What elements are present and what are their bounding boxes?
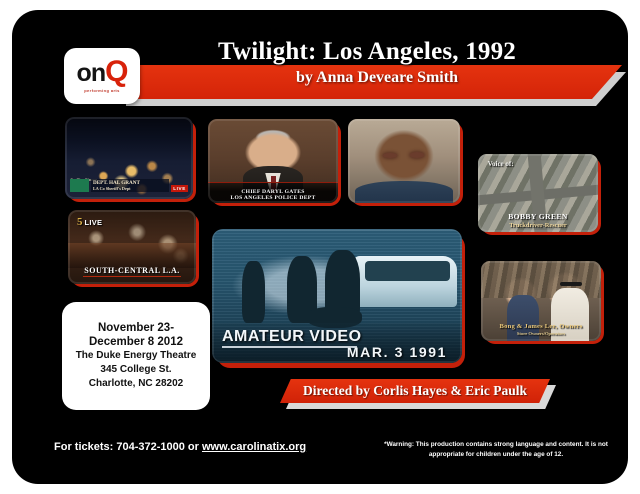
bobby-green-caption-2: Truckdriver-Rescuer <box>478 222 598 229</box>
logo-wordmark: onQ <box>77 59 128 86</box>
director-banner: Directed by Corlis Hayes & Eric Paulk <box>280 379 550 403</box>
venue-city: Charlotte, NC 28202 <box>89 377 183 391</box>
photo-night-aerial: On The Phone DEPT. HAL GRANT LA Co Sheri… <box>65 117 193 199</box>
bobby-green-caption-1: BOBBY GREEN <box>478 212 598 221</box>
south-central-rule <box>83 276 180 278</box>
amateur-video-figure-1 <box>242 261 265 323</box>
tickets-info: For tickets: 704-372-1000 or www.carolin… <box>54 441 306 453</box>
amateur-video-car-window <box>365 261 450 281</box>
tickets-phone-text: For tickets: 704-372-1000 or <box>54 441 199 453</box>
page-title: Twilight: Los Angeles, 1992 <box>152 38 582 66</box>
channel-5-live-badge: 5 LIVE <box>77 217 102 228</box>
live-badge: LIVE <box>171 185 188 192</box>
photo-chief-gates: CHIEF DARYL GATES LOS ANGELES POLICE DEP… <box>208 119 338 203</box>
live-label: LIVE <box>84 218 102 227</box>
store-owners-caption-2: Store Owners/Operators <box>481 331 601 336</box>
venue-street: 345 College St. <box>100 363 171 377</box>
venue-theatre-name: The Duke Energy Theatre <box>76 349 197 363</box>
king-portrait-image <box>348 119 460 203</box>
south-central-caption: SOUTH-CENTRAL L.A. <box>68 266 196 275</box>
onq-logo: onQ performing arts <box>64 48 140 104</box>
photo-south-central: 5 LIVE SOUTH-CENTRAL L.A. <box>68 210 196 284</box>
content-warning: *Warning: This production contains stron… <box>378 440 614 460</box>
poster: Twilight: Los Angeles, 1992 by Anna Deve… <box>0 0 640 494</box>
channel-number: 5 <box>77 217 83 228</box>
photo-store-owners: Bong & James Lee, Owners Store Owners/Op… <box>481 261 601 341</box>
south-central-rubble <box>68 243 196 268</box>
poster-stage: Twilight: Los Angeles, 1992 by Anna Deve… <box>12 10 628 484</box>
venue-info-card: November 23- December 8 2012 The Duke En… <box>62 302 210 410</box>
night-aerial-caption-2: LA Co Sheriff's Dept <box>93 186 167 191</box>
photo-amateur-video: AMATEUR VIDEO MAR. 3 1991 <box>212 229 462 363</box>
amateur-video-overlay-date: MAR. 3 1991 <box>347 344 447 360</box>
logo-tagline: performing arts <box>84 88 120 93</box>
store-owners-caption-1: Bong & James Lee, Owners <box>481 323 601 330</box>
amateur-video-overlay-title: AMATEUR VIDEO <box>222 328 362 346</box>
bobby-green-voice-of: Voice of: <box>488 160 514 168</box>
show-author: by Anna Deveare Smith <box>172 69 582 87</box>
store-owner-sunglasses <box>560 282 582 286</box>
logo-q: Q <box>105 55 127 88</box>
chief-gates-caption-1: CHIEF DARYL GATES <box>208 189 338 195</box>
tickets-url-link[interactable]: www.carolinatix.org <box>202 441 306 453</box>
logo-on: on <box>77 59 106 87</box>
chief-gates-caption-2: LOS ANGELES POLICE DEPT <box>208 195 338 201</box>
venue-dates-line-2: December 8 2012 <box>89 335 183 349</box>
photo-rodney-king-portrait <box>348 119 460 203</box>
night-aerial-lower-third: DEPT. HAL GRANT LA Co Sheriff's Dept LIV… <box>70 179 188 192</box>
amateur-video-overlay-rule <box>222 346 357 348</box>
photo-bobby-green: Voice of: BOBBY GREEN Truckdriver-Rescue… <box>478 154 598 232</box>
king-eye-left <box>383 153 398 159</box>
news-chip <box>70 179 89 192</box>
king-eye-right <box>410 152 425 158</box>
king-shoulders <box>355 181 454 203</box>
director-credit: Directed by Corlis Hayes & Eric Paulk <box>303 383 527 399</box>
venue-dates-line-1: November 23- <box>98 321 174 335</box>
